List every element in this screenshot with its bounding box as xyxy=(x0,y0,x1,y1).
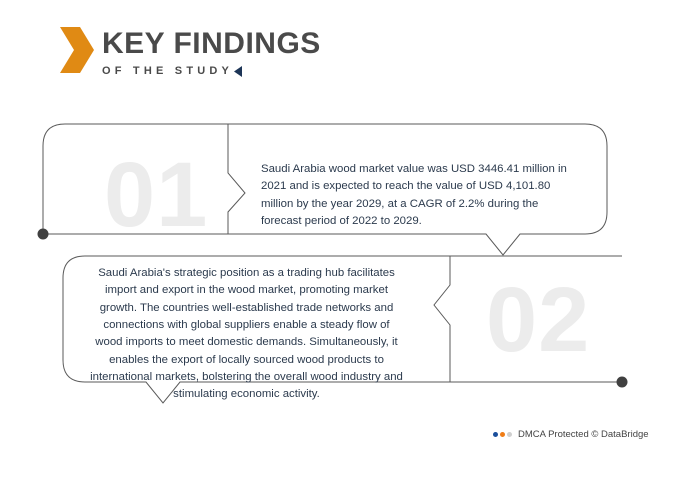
card-01-text: Saudi Arabia wood market value was USD 3… xyxy=(261,161,579,230)
card-01-number: 01 xyxy=(104,149,208,241)
dmca-dot-gray-icon xyxy=(507,432,512,437)
end-dot xyxy=(617,377,628,388)
card-02-number: 02 xyxy=(486,274,590,366)
footer: DMCA Protected © DataBridge xyxy=(493,429,649,440)
card-02-text: Saudi Arabia's strategic position as a t… xyxy=(89,265,404,404)
footer-text: DMCA Protected © DataBridge xyxy=(518,429,649,440)
start-dot xyxy=(38,229,49,240)
infographic-canvas: KEY FINDINGS OF THE STUDY 01 02 Saudi Ar… xyxy=(0,0,690,497)
card-01-divider xyxy=(228,124,245,234)
dmca-dot-blue-icon xyxy=(493,432,498,437)
card-02-divider xyxy=(434,256,450,382)
dmca-dot-orange-icon xyxy=(500,432,505,437)
findings-diagram xyxy=(0,0,690,497)
